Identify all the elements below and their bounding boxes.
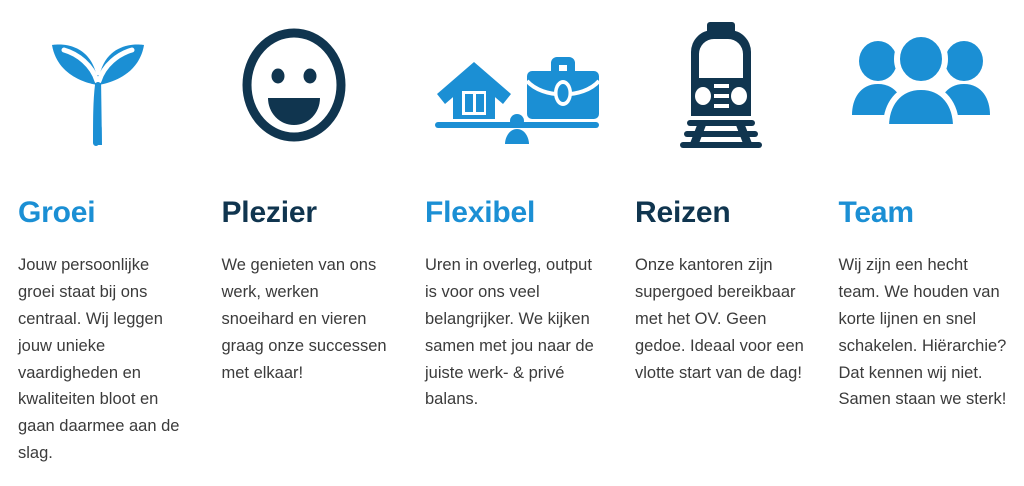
work-life-balance-icon xyxy=(425,0,603,170)
value-card-plezier: Plezier We genieten van ons werk, werken… xyxy=(204,0,408,486)
value-description: Uren in overleg, output is voor ons veel… xyxy=(425,252,603,413)
train-icon xyxy=(635,0,807,170)
value-title: Team xyxy=(839,198,914,228)
people-group-icon xyxy=(839,0,1011,170)
value-title: Flexibel xyxy=(425,198,535,228)
value-card-team: Team Wij zijn een hecht team. We houden … xyxy=(821,0,1024,486)
values-grid: Groei Jouw persoonlijke groei staat bij … xyxy=(0,0,1024,486)
value-description: Jouw persoonlijke groei staat bij ons ce… xyxy=(18,252,190,467)
value-description: Onze kantoren zijn supergoed bereikbaar … xyxy=(635,252,807,386)
value-description: Wij zijn een hecht team. We houden van k… xyxy=(839,252,1011,413)
value-card-groei: Groei Jouw persoonlijke groei staat bij … xyxy=(0,0,204,486)
value-title: Reizen xyxy=(635,198,731,228)
value-title: Plezier xyxy=(222,198,317,228)
sprout-plant-icon xyxy=(18,0,190,170)
value-card-reizen: Reizen Onze kantoren zijn supergoed bere… xyxy=(617,0,821,486)
value-card-flexibel: Flexibel Uren in overleg, output is voor… xyxy=(407,0,617,486)
value-description: We genieten van ons werk, werken snoeiha… xyxy=(222,252,394,386)
smiley-face-icon xyxy=(222,0,394,170)
value-title: Groei xyxy=(18,198,95,228)
